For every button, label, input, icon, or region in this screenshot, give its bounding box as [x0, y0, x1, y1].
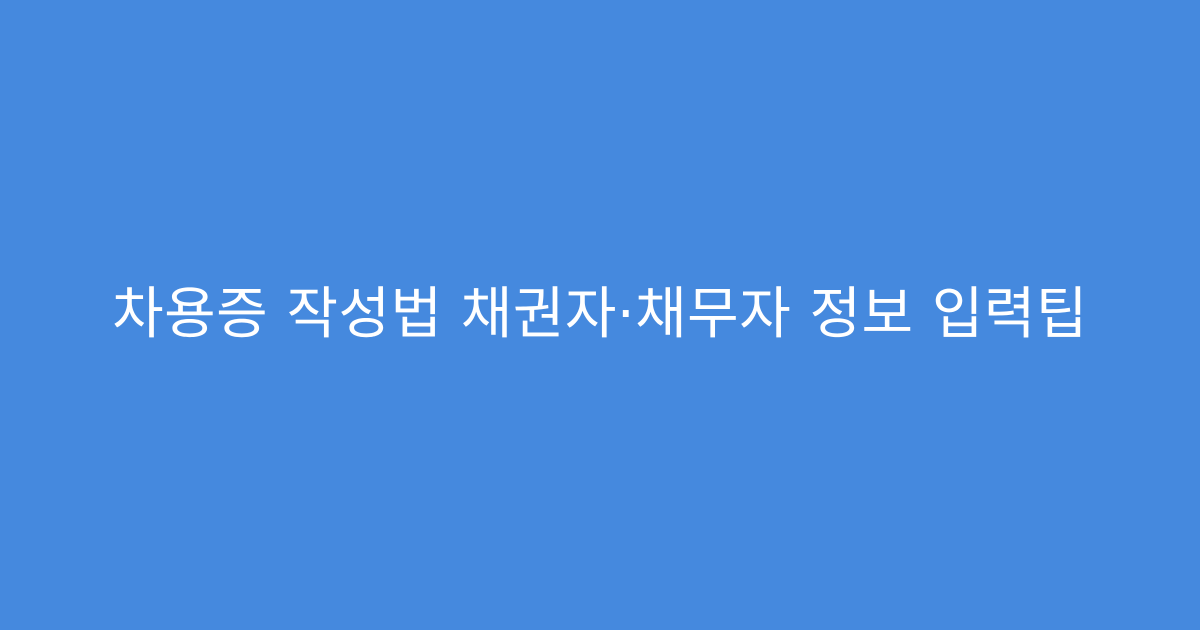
- page-title: 차용증 작성법 채권자·채무자 정보 입력팁: [112, 280, 1088, 350]
- og-share-card: 차용증 작성법 채권자·채무자 정보 입력팁: [0, 0, 1200, 630]
